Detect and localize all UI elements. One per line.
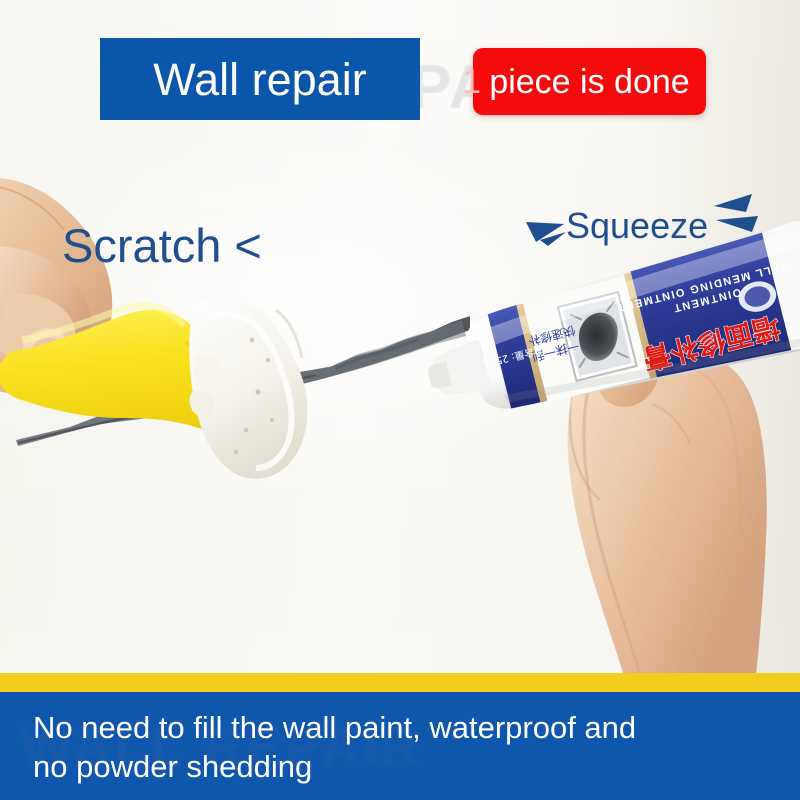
- footer-yellow-stripe: [0, 673, 800, 692]
- footer-text-line1: No need to fill the wall paint, waterpro…: [33, 712, 636, 743]
- headline-blue-banner: Wall repair: [100, 38, 420, 120]
- callout-squeeze: Squeeze: [566, 208, 708, 244]
- callout-squeeze-label: Squeeze: [566, 205, 708, 246]
- footer-text-line2: no powder shedding: [33, 751, 312, 782]
- squeeze-right-arrows-icon: [708, 192, 762, 240]
- headline-red-banner: piece is done: [473, 48, 706, 115]
- callout-scratch: Scratch <: [62, 222, 262, 269]
- advertisement-canvas: WALL REPAIR: [0, 0, 800, 800]
- footer-blue-band: WALL REPAIR No need to fill the wall pai…: [0, 692, 800, 800]
- headline-red-prefix: 1: [462, 63, 481, 102]
- headline-blue-text: Wall repair: [153, 57, 366, 102]
- headline-red-text: piece is done: [489, 65, 689, 99]
- squeeze-left-arrow-icon: [524, 218, 568, 248]
- callout-scratch-arrow: <: [221, 219, 262, 272]
- callout-scratch-label: Scratch: [62, 219, 221, 272]
